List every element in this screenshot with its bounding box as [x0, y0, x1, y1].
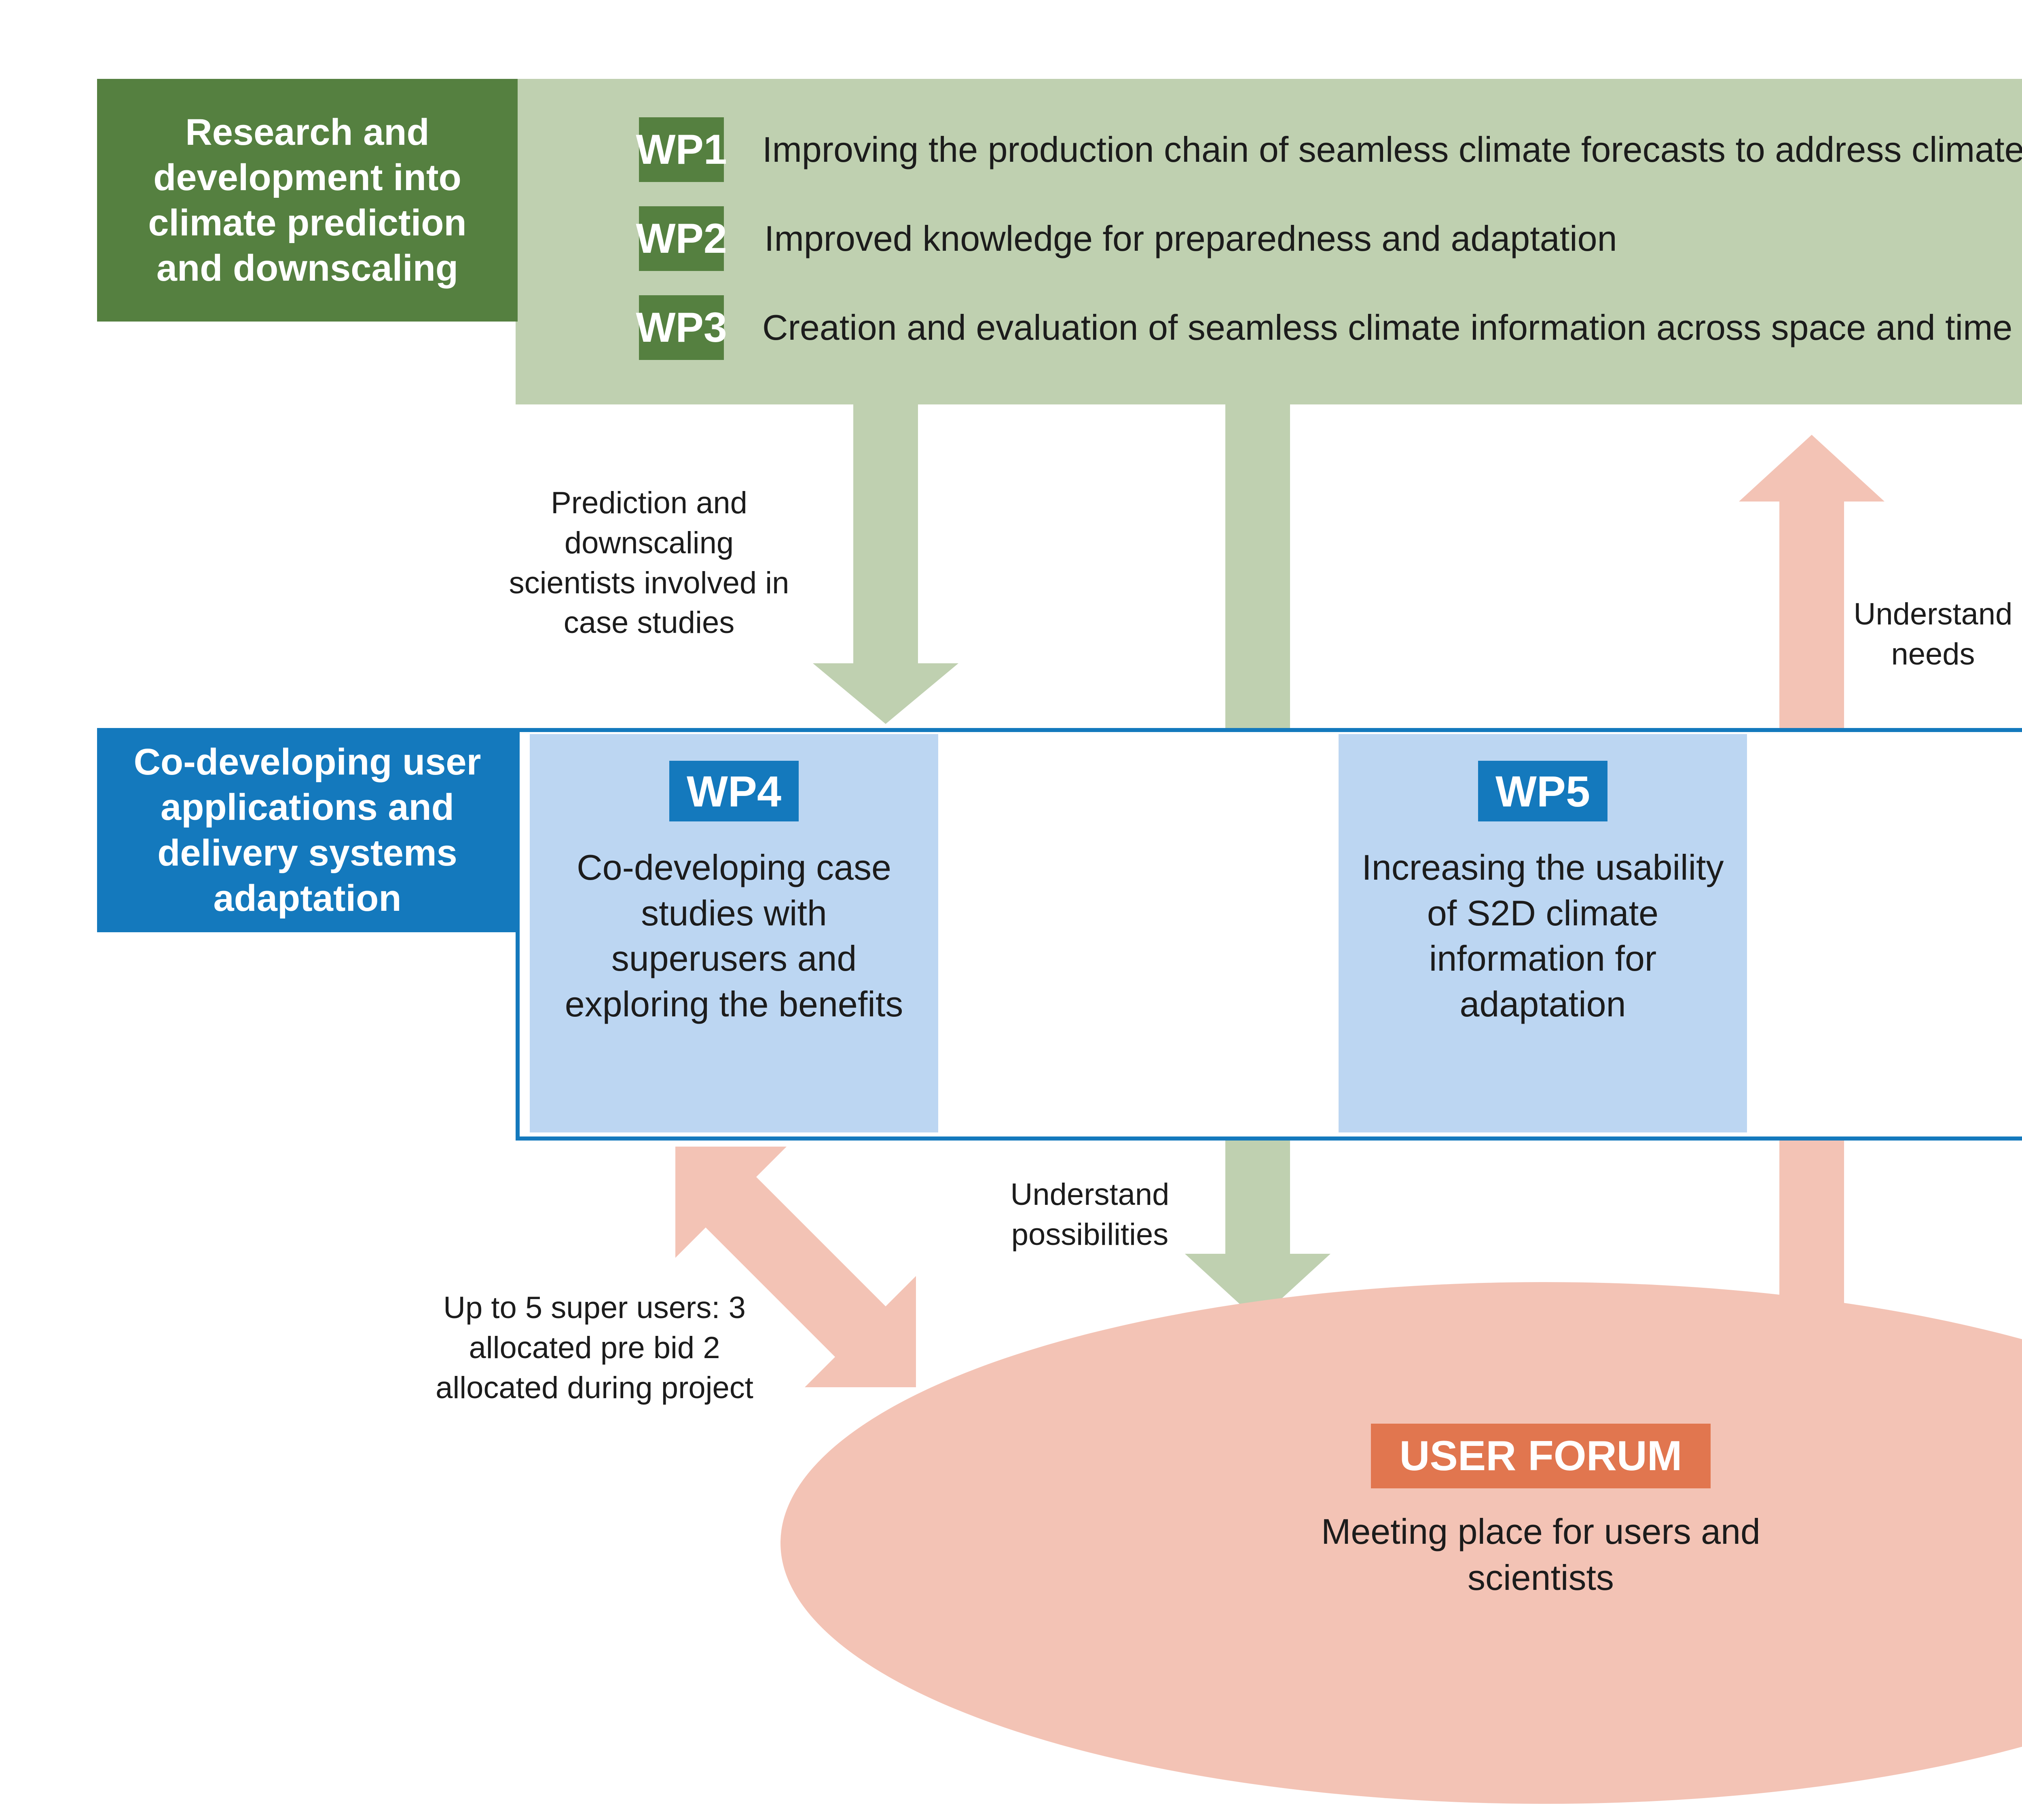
wp1-description: Improving the production chain of seamle… [762, 129, 2022, 170]
category-codevelop-label: Co-developing user applications and deli… [97, 728, 518, 932]
wp2-description: Improved knowledge for preparedness and … [764, 218, 1617, 259]
wp5-code-chip: WP5 [1478, 761, 1607, 821]
wp5-card[interactable]: WP5 Increasing the usability of S2D clim… [1339, 734, 1747, 1132]
annotation-understand-needs: Understand needs [1842, 595, 2022, 675]
wp4-code-chip: WP4 [669, 761, 799, 821]
annotation-super-users: Up to 5 super users: 3 allocated pre bid… [435, 1288, 754, 1408]
wp3-code-chip: WP3 [639, 295, 724, 360]
annotation-prediction-downscaling: Prediction and downscaling scientists in… [508, 483, 791, 643]
green-arrow-to-wp4 [813, 404, 958, 724]
wp1-row[interactable]: WP1 Improving the production chain of se… [639, 117, 2022, 182]
wp4-card[interactable]: WP4 Co-developing case studies with supe… [530, 734, 938, 1132]
user-forum-description: Meeting place for users and scientists [1274, 1509, 1808, 1601]
wp1-code-chip: WP1 [639, 117, 724, 182]
category-research-label: Research and development into climate pr… [97, 79, 518, 322]
diagram-canvas: Research and development into climate pr… [0, 0, 2022, 1820]
annotation-understand-possibilities: Understand possibilities [985, 1175, 1195, 1255]
wp3-description: Creation and evaluation of seamless clim… [762, 307, 2012, 348]
wp2-code-chip: WP2 [639, 206, 724, 271]
wp4-description: Co-developing case studies with superuse… [530, 845, 938, 1027]
wp2-row[interactable]: WP2 Improved knowledge for preparedness … [639, 206, 1617, 271]
wp3-row[interactable]: WP3 Creation and evaluation of seamless … [639, 295, 2012, 360]
wp5-description: Increasing the usability of S2D climate … [1339, 845, 1747, 1027]
user-forum-label: USER FORUM [1371, 1424, 1711, 1488]
